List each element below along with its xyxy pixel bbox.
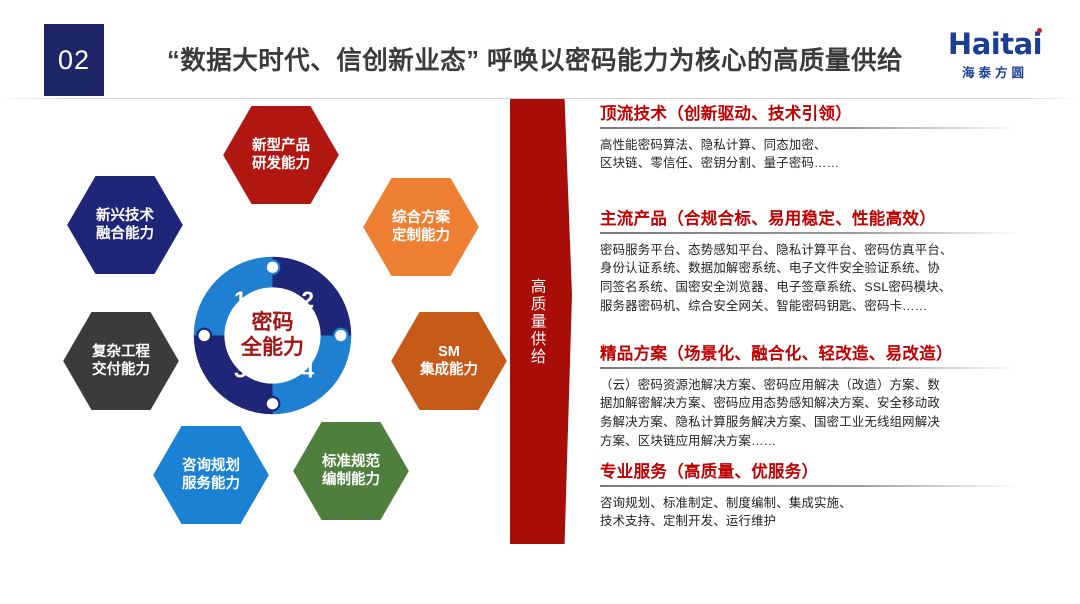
ring-quadrant-1[interactable]	[194, 257, 273, 336]
hex-label-line1: 新型产品	[252, 137, 310, 155]
hex-label-line1: 标准规范	[322, 453, 380, 471]
ring-quadrant-3[interactable]	[194, 336, 273, 415]
hex-label-line2: 集成能力	[420, 361, 478, 379]
offering-block-mainstream-products: 主流产品（合规合标、易用稳定、性能高效） 密码服务平台、态势感知平台、隐私计算平…	[600, 205, 1020, 316]
hex-label-line1: 咨询规划	[182, 457, 240, 475]
logo-wordmark: Haitai	[936, 30, 1054, 59]
offering-block-top-tech: 顶流技术（创新驱动、技术引领） 高性能密码算法、隐私计算、同态加密、 区块链、零…	[600, 100, 1020, 173]
offering-body-line: 同签名系统、国密安全浏览器、电子签章系统、SSL密码模块、	[600, 278, 1020, 297]
offering-block-premium-solutions: 精品方案（场景化、融合化、轻改造、易改造） （云）密码资源池解决方案、密码应用解…	[600, 340, 1020, 451]
hex-consulting-planning[interactable]: 咨询规划 服务能力	[152, 424, 270, 526]
hex-label-line1: 综合方案	[392, 209, 450, 227]
capability-diagram: 1 2 3 4 密码 全能力 新型产品 研发能力 综合方案 定制能力 SM 集成…	[30, 100, 510, 570]
ring-number-3: 3	[234, 357, 247, 383]
puzzle-notch-bottom	[267, 398, 278, 409]
offering-body-line: 咨询规划、标准制定、制度编制、集成实施、	[600, 494, 1020, 513]
offering-block-professional-services: 专业服务（高质量、优服务） 咨询规划、标准制定、制度编制、集成实施、 技术支持、…	[600, 458, 1020, 531]
hex-label-line2: 定制能力	[392, 227, 450, 245]
hex-complex-engineering[interactable]: 复杂工程 交付能力	[62, 310, 180, 412]
hex-emerging-tech-fusion[interactable]: 新兴技术 融合能力	[66, 174, 184, 276]
puzzle-notch-right	[335, 330, 346, 341]
hex-label-line2: 编制能力	[322, 471, 380, 489]
offering-body: 咨询规划、标准制定、制度编制、集成实施、 技术支持、定制开发、运行维护	[600, 494, 1020, 532]
capability-ring: 1 2 3 4 密码 全能力	[185, 248, 360, 423]
company-logo: Haitai 海泰方圆	[936, 30, 1054, 88]
hex-sm-integration[interactable]: SM 集成能力	[390, 310, 508, 412]
offering-body: 高性能密码算法、隐私计算、同态加密、 区块链、零信任、密钥分割、量子密码……	[600, 136, 1020, 174]
hex-label-line2: 研发能力	[252, 155, 310, 173]
ring-number-4: 4	[301, 357, 314, 383]
ring-svg: 1 2 3 4	[185, 248, 360, 423]
page-title: “数据大时代、信创新业态” 呼唤以密码能力为核心的高质量供给	[130, 40, 940, 77]
offering-heading: 精品方案（场景化、融合化、轻改造、易改造）	[600, 340, 1020, 367]
hex-standard-drafting[interactable]: 标准规范 编制能力	[292, 420, 410, 522]
puzzle-notch-top	[267, 262, 278, 273]
hex-label-line1: 新兴技术	[96, 207, 154, 225]
offering-body-line: 高性能密码算法、隐私计算、同态加密、	[600, 136, 1020, 155]
offering-body-line: 密码服务平台、态势感知平台、隐私计算平台、密码仿真平台、	[600, 241, 1020, 260]
supply-band-label: 高质量供给	[510, 99, 564, 544]
offering-body: 密码服务平台、态势感知平台、隐私计算平台、密码仿真平台、 身份认证系统、数据加解…	[600, 241, 1020, 316]
logo-chinese-name: 海泰方圆	[936, 62, 1054, 81]
slide-canvas: 02 “数据大时代、信创新业态” 呼唤以密码能力为核心的高质量供给 Haitai…	[0, 0, 1080, 604]
offering-heading: 顶流技术（创新驱动、技术引领）	[600, 100, 1020, 127]
offering-body-line: 区块链、零信任、密钥分割、量子密码……	[600, 154, 1020, 173]
hex-integrated-solution[interactable]: 综合方案 定制能力	[362, 176, 480, 278]
offering-heading-rule	[600, 127, 1020, 129]
offering-body: （云）密码资源池解决方案、密码应用解决（改造）方案、数 据加解密解决方案、密码应…	[600, 376, 1020, 451]
hex-label-line1: 复杂工程	[92, 343, 150, 361]
offering-body-line: 据加解密解决方案、密码应用态势感知解决方案、安全移动政	[600, 394, 1020, 413]
offering-body-line: 方案、区块链应用解决方案……	[600, 432, 1020, 451]
hex-label-line2: 服务能力	[182, 475, 240, 493]
hex-label-line1: SM	[438, 343, 460, 361]
offering-body-line: 身份认证系统、数据加解密系统、电子文件安全验证系统、协	[600, 259, 1020, 278]
logo-dot-icon	[1037, 28, 1042, 33]
offering-body-line: 技术支持、定制开发、运行维护	[600, 512, 1020, 531]
offering-heading-rule	[600, 232, 1020, 234]
offering-heading-rule	[600, 367, 1020, 369]
offering-heading: 专业服务（高质量、优服务）	[600, 458, 1020, 485]
offering-body-line: 务解决方案、隐私计算服务解决方案、国密工业无线组网解决	[600, 413, 1020, 432]
hex-label-line2: 融合能力	[96, 225, 154, 243]
hex-new-product-rnd[interactable]: 新型产品 研发能力	[222, 104, 340, 206]
hex-label-line2: 交付能力	[92, 361, 150, 379]
section-number-badge: 02	[44, 24, 104, 96]
ring-number-1: 1	[234, 287, 247, 313]
puzzle-notch-left	[199, 330, 210, 341]
offering-body-line: 服务器密码机、综合安全网关、智能密码钥匙、密码卡……	[600, 297, 1020, 316]
offering-body-line: （云）密码资源池解决方案、密码应用解决（改造）方案、数	[600, 376, 1020, 395]
offering-heading: 主流产品（合规合标、易用稳定、性能高效）	[600, 205, 1020, 232]
offering-heading-rule	[600, 485, 1020, 487]
ring-number-2: 2	[301, 287, 314, 313]
